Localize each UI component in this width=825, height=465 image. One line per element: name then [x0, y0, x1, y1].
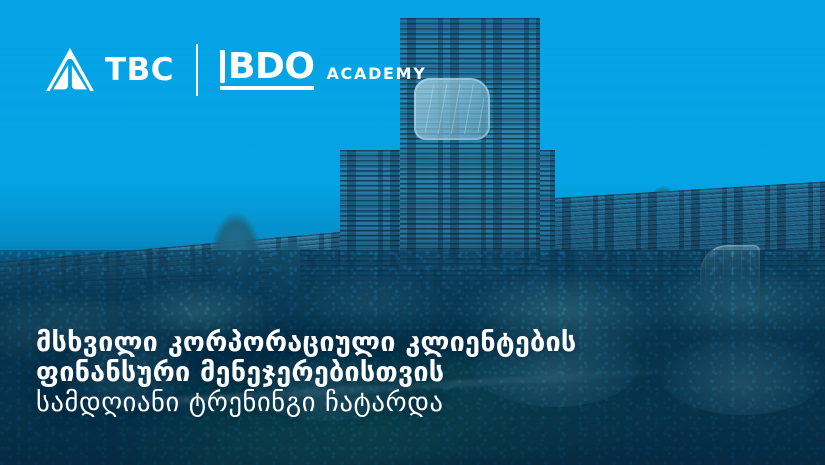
logo-bar: TBC BDO ACADEMY	[46, 44, 427, 96]
bdo-wordmark: BDO	[228, 50, 314, 83]
promo-banner: TBC BDO ACADEMY მსხვილი კორპორაციული კლი…	[0, 0, 825, 465]
headline-line-3: სამდღიანი ტრენინგი ჩატარდა	[36, 388, 796, 418]
tbc-logo-lockup[interactable]: TBC	[46, 48, 174, 93]
headline-line-1: მსხვილი კორპორაციული კლიენტების	[36, 328, 796, 358]
bdo-logo-icon: BDO	[220, 50, 314, 90]
headline: მსხვილი კორპორაციული კლიენტების ფინანსურ…	[36, 328, 796, 418]
tbc-wordmark: TBC	[105, 55, 174, 86]
headline-line-2: ფინანსური მენეჯერებისთვის	[36, 358, 796, 388]
tbc-triangle-logo-icon	[46, 48, 94, 93]
logo-divider	[196, 44, 198, 96]
bdo-academy-label: ACADEMY	[326, 64, 426, 90]
bdo-vertical-bar-icon	[220, 50, 225, 83]
bdo-logo-lockup[interactable]: BDO ACADEMY	[220, 50, 427, 90]
